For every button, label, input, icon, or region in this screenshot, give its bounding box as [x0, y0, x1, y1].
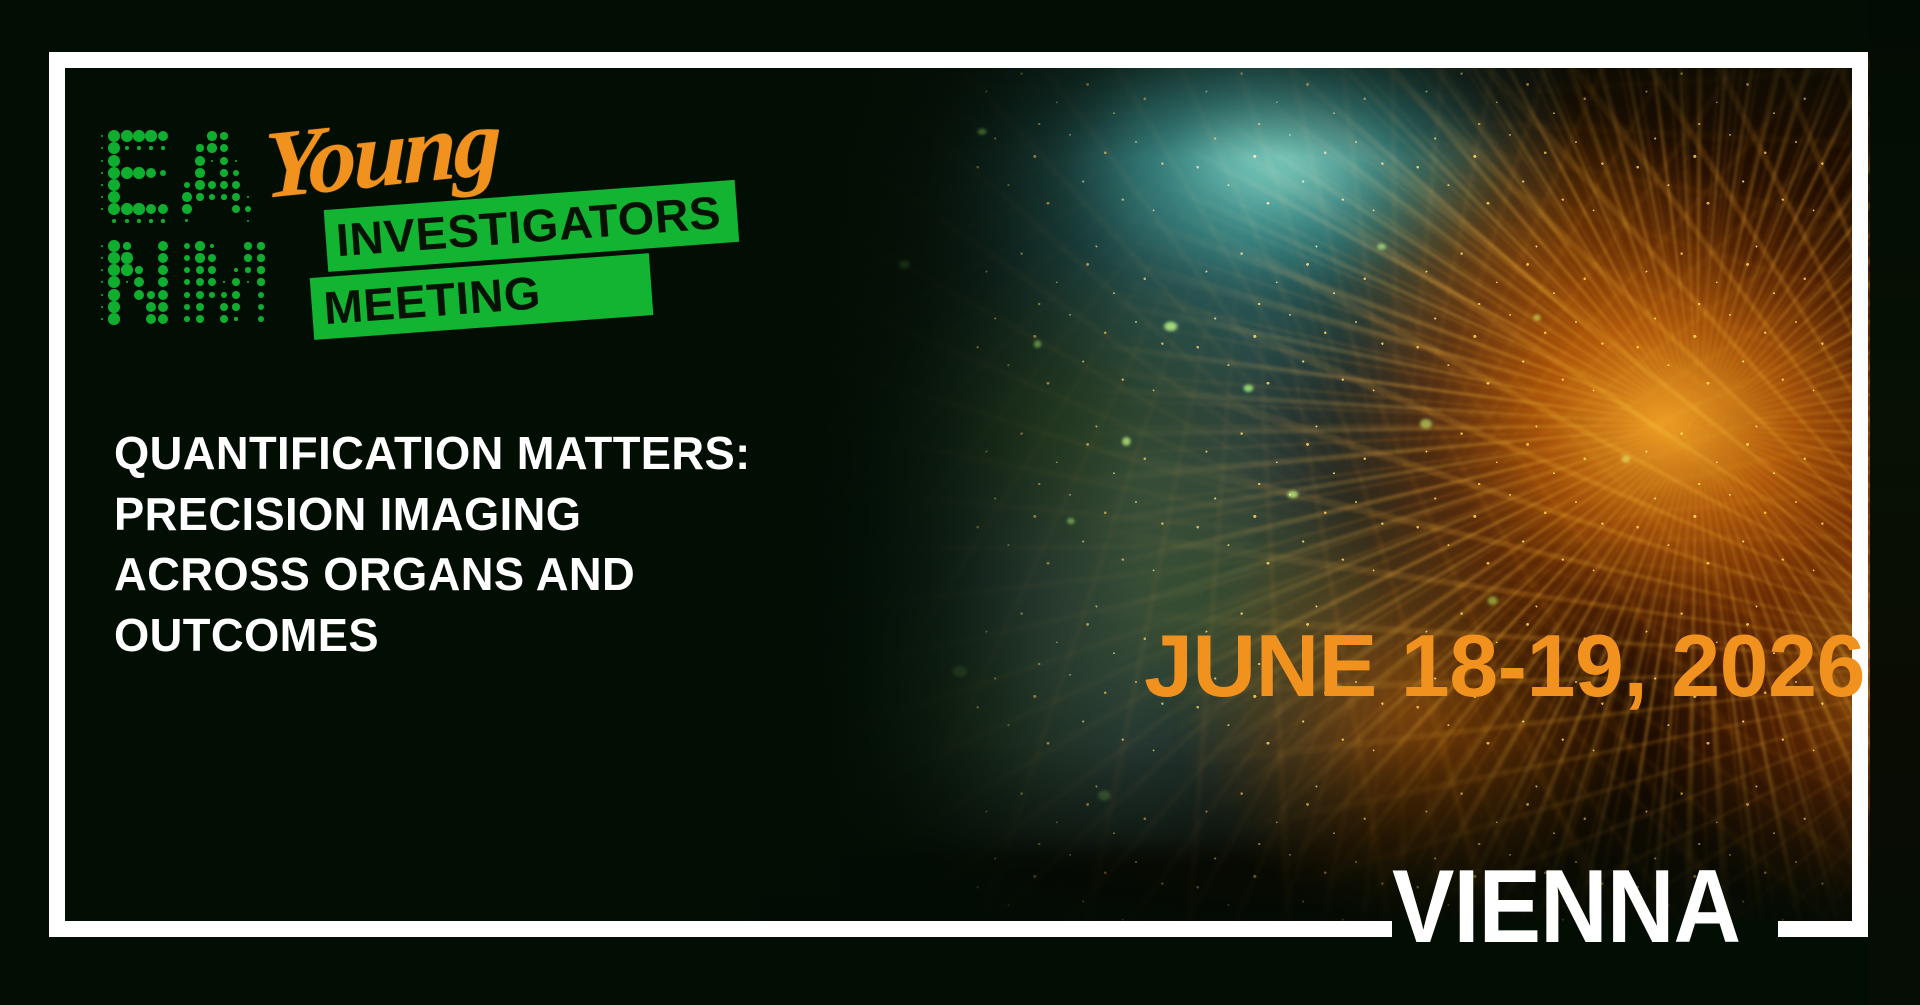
halftone-dot — [146, 168, 157, 179]
halftone-dot — [135, 266, 142, 273]
halftone-dot — [211, 160, 213, 162]
halftone-dot — [232, 291, 240, 299]
event-title: QUANTIFICATION MATTERS: PRECISION IMAGIN… — [114, 423, 814, 666]
halftone-dot — [101, 147, 103, 149]
event-city: VIENNA — [1392, 855, 1740, 959]
halftone-dot — [184, 267, 190, 273]
halftone-dot — [232, 181, 240, 189]
artwork-bottom-fade — [760, 52, 1870, 937]
halftone-dot — [221, 292, 227, 298]
halftone-dot — [208, 254, 217, 263]
halftone-dot — [134, 277, 145, 288]
halftone-dot — [101, 306, 103, 308]
halftone-dot — [145, 130, 156, 141]
halftone-dot — [182, 192, 192, 202]
halftone-dot — [160, 170, 167, 177]
halftone-dot — [195, 168, 205, 178]
halftone-dot — [184, 279, 190, 285]
halftone-dot — [101, 257, 103, 259]
meeting-bar-label: MEETING — [322, 265, 543, 335]
halftone-dot — [101, 135, 103, 137]
halftone-dot — [220, 303, 228, 311]
halftone-dot — [101, 196, 103, 198]
halftone-dot — [258, 292, 265, 299]
halftone-dot — [108, 264, 120, 276]
halftone-dot — [147, 291, 155, 299]
halftone-dot — [233, 170, 240, 177]
halftone-dot — [108, 155, 120, 167]
halftone-dot — [232, 278, 240, 286]
halftone-dot — [137, 219, 140, 222]
halftone-dot — [196, 144, 203, 151]
halftone-dot — [220, 144, 229, 153]
halftone-dot — [101, 172, 103, 174]
halftone-dot — [108, 301, 119, 312]
halftone-dot — [158, 277, 168, 287]
halftone-dot — [149, 219, 152, 222]
halftone-dot — [207, 143, 216, 152]
poster-canvas: EANM Young INVESTIGATORS MEETING QUANTIF… — [0, 0, 1920, 1005]
halftone-dot — [101, 281, 103, 283]
event-title-line-1: QUANTIFICATION MATTERS: — [114, 423, 804, 484]
halftone-dot — [108, 142, 120, 154]
halftone-dot — [101, 208, 103, 210]
halftone-dot — [184, 292, 190, 298]
halftone-dot — [158, 131, 169, 142]
eanm-yim-logo: EANM Young INVESTIGATORS MEETING — [96, 118, 736, 363]
halftone-dot — [108, 203, 120, 215]
halftone-dot — [207, 131, 216, 140]
halftone-dot — [244, 242, 252, 250]
halftone-dot — [195, 241, 204, 250]
halftone-dot — [121, 264, 132, 275]
halftone-dot — [247, 281, 249, 283]
halftone-dot — [209, 194, 215, 200]
halftone-dot — [184, 182, 190, 188]
halftone-dot — [258, 304, 265, 311]
halftone-dot — [158, 314, 168, 324]
halftone-dot — [220, 157, 229, 166]
halftone-dot — [232, 205, 240, 213]
halftone-dot — [220, 132, 227, 139]
halftone-dot — [121, 252, 132, 263]
halftone-dot — [258, 316, 265, 323]
halftone-dot — [221, 194, 226, 199]
halftone-dot — [133, 167, 144, 178]
halftone-dot — [158, 253, 168, 263]
halftone-dot — [158, 204, 168, 214]
halftone-dot — [185, 219, 188, 222]
halftone-dot — [108, 276, 120, 288]
halftone-dot — [184, 255, 190, 261]
halftone-dot — [234, 317, 237, 320]
halftone-dot — [158, 265, 168, 275]
halftone-dot — [220, 315, 228, 323]
halftone-dot — [244, 254, 252, 262]
halftone-dot — [121, 203, 133, 215]
halftone-dot — [195, 253, 204, 262]
halftone-dot — [108, 179, 120, 191]
halftone-dot — [208, 266, 217, 275]
halftone-dot — [133, 130, 145, 142]
neuron-artwork-image — [760, 52, 1870, 937]
halftone-dot — [196, 315, 204, 323]
halftone-dot — [121, 130, 133, 142]
halftone-dot — [257, 242, 264, 249]
halftone-dot — [257, 254, 264, 261]
halftone-dot — [196, 278, 204, 286]
halftone-dot — [232, 193, 240, 201]
halftone-dot — [108, 313, 119, 324]
halftone-dot — [220, 181, 229, 190]
halftone-dot — [196, 291, 204, 299]
halftone-dot — [158, 290, 168, 300]
halftone-dot — [112, 219, 116, 223]
halftone-dot — [134, 290, 145, 301]
halftone-dot — [245, 267, 251, 273]
halftone-dot — [101, 160, 103, 162]
halftone-dot — [108, 167, 120, 179]
halftone-dot — [101, 294, 103, 296]
halftone-dot — [195, 156, 205, 166]
halftone-dot — [257, 278, 264, 285]
halftone-dot — [235, 160, 237, 162]
halftone-dot — [146, 314, 156, 324]
halftone-dot — [108, 191, 120, 203]
event-date: JUNE 18-19, 2026 — [1144, 615, 1865, 717]
halftone-dot — [184, 316, 190, 322]
halftone-dot — [184, 243, 190, 249]
halftone-dot — [108, 130, 120, 142]
halftone-dot — [208, 181, 216, 189]
halftone-dot — [208, 278, 217, 287]
halftone-dot — [108, 289, 119, 300]
halftone-dot — [125, 146, 129, 150]
halftone-dot — [210, 244, 214, 248]
event-title-line-3: ACROSS ORGANS AND — [114, 544, 804, 605]
halftone-dot — [232, 303, 240, 311]
halftone-dot — [121, 167, 133, 179]
halftone-dot — [108, 252, 120, 264]
halftone-dot — [101, 245, 103, 247]
halftone-dot — [149, 146, 152, 149]
halftone-dot — [133, 203, 144, 214]
event-title-line-2: PRECISION IMAGING — [114, 484, 804, 545]
halftone-dot — [196, 303, 204, 311]
halftone-dot — [245, 206, 251, 212]
halftone-dot — [195, 180, 204, 189]
halftone-dot — [101, 184, 103, 186]
halftone-dot — [123, 242, 130, 249]
halftone-dot — [108, 240, 120, 252]
halftone-dot — [146, 204, 157, 215]
event-title-line-4: OUTCOMES — [114, 605, 804, 666]
halftone-dot — [247, 220, 249, 222]
halftone-dot — [184, 304, 190, 310]
halftone-dot — [161, 146, 164, 149]
halftone-dot — [196, 193, 204, 201]
halftone-dot — [158, 302, 168, 312]
halftone-dot — [126, 281, 128, 283]
halftone-dot — [182, 204, 192, 214]
halftone-dot — [161, 219, 164, 222]
halftone-dot — [257, 266, 264, 273]
artwork-bleed — [1868, 0, 1920, 1005]
halftone-dot — [146, 302, 156, 312]
halftone-dot — [247, 196, 248, 197]
halftone-dot — [101, 269, 103, 271]
halftone-dot — [137, 146, 141, 150]
halftone-dot — [125, 219, 129, 223]
halftone-dot — [234, 268, 239, 273]
halftone-dot — [196, 266, 204, 274]
halftone-dot — [223, 281, 224, 282]
halftone-dot — [209, 292, 215, 298]
halftone-dot — [220, 169, 228, 177]
halftone-dot — [101, 318, 103, 320]
halftone-dot — [158, 241, 168, 251]
young-script-word: Young — [264, 93, 498, 214]
